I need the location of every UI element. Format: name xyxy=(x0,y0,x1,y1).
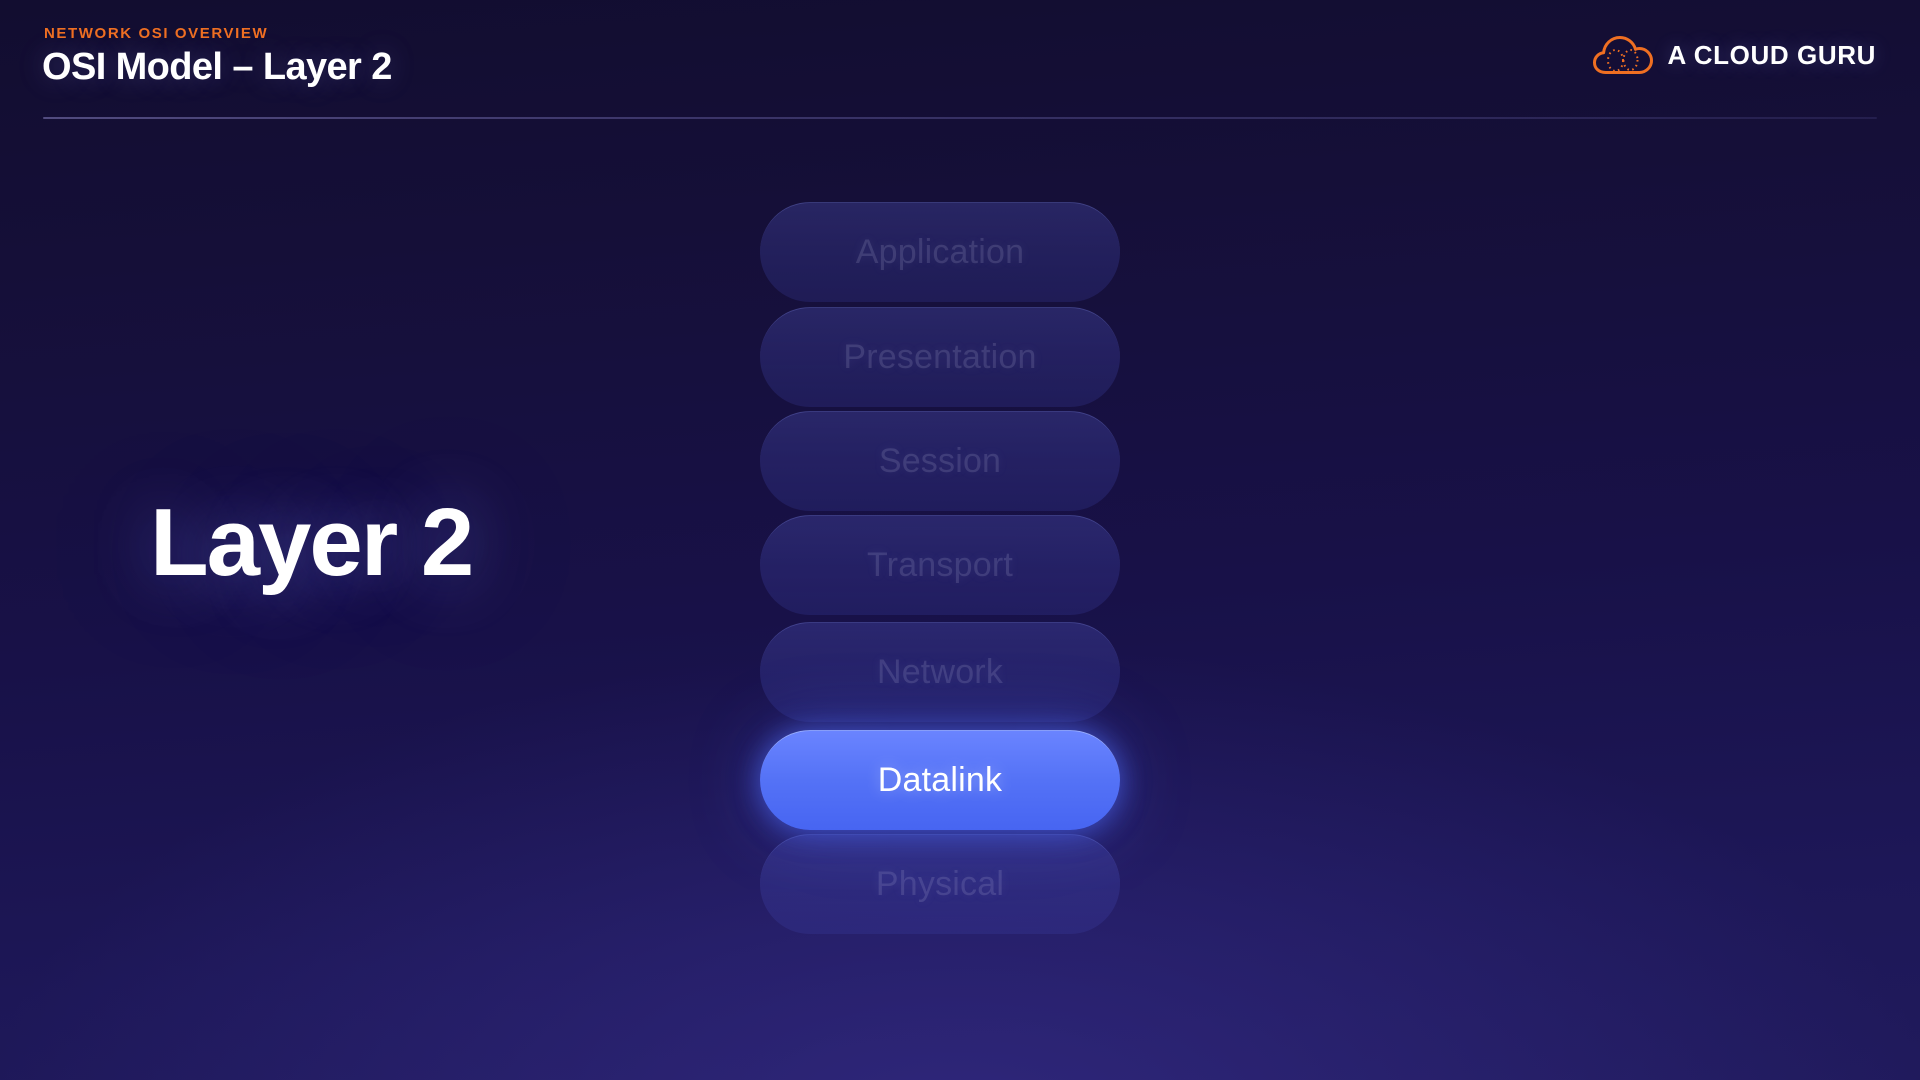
cloud-outline-icon xyxy=(1592,32,1654,78)
osi-layer-label: Application xyxy=(856,233,1025,272)
osi-layer-application[interactable]: Application xyxy=(760,202,1120,302)
osi-layer-presentation[interactable]: Presentation xyxy=(760,307,1120,407)
osi-layer-label: Session xyxy=(879,442,1001,481)
osi-layer-session[interactable]: Session xyxy=(760,411,1120,511)
header-divider xyxy=(43,117,1877,119)
osi-layer-label: Network xyxy=(877,653,1003,692)
osi-layer-physical[interactable]: Physical xyxy=(760,834,1120,934)
osi-layer-label: Transport xyxy=(867,546,1013,585)
brand-lockup: A CLOUD GURU xyxy=(1592,32,1876,78)
slide-header: NETWORK OSI OVERVIEW OSI Model – Layer 2… xyxy=(0,0,1920,118)
osi-layer-datalink[interactable]: Datalink xyxy=(760,730,1120,830)
header-eyebrow: NETWORK OSI OVERVIEW xyxy=(44,25,268,42)
brand-name: A CLOUD GURU xyxy=(1668,40,1876,71)
layer-caption: Layer 2 xyxy=(150,488,472,598)
osi-layer-stack: Application Presentation Session Transpo… xyxy=(760,202,1120,942)
osi-layer-network[interactable]: Network xyxy=(760,622,1120,722)
osi-layer-label: Presentation xyxy=(843,338,1036,377)
slide: NETWORK OSI OVERVIEW OSI Model – Layer 2… xyxy=(0,0,1920,1080)
page-title: OSI Model – Layer 2 xyxy=(42,46,392,89)
osi-layer-label: Datalink xyxy=(878,761,1002,800)
osi-layer-transport[interactable]: Transport xyxy=(760,515,1120,615)
osi-layer-label: Physical xyxy=(876,865,1004,904)
